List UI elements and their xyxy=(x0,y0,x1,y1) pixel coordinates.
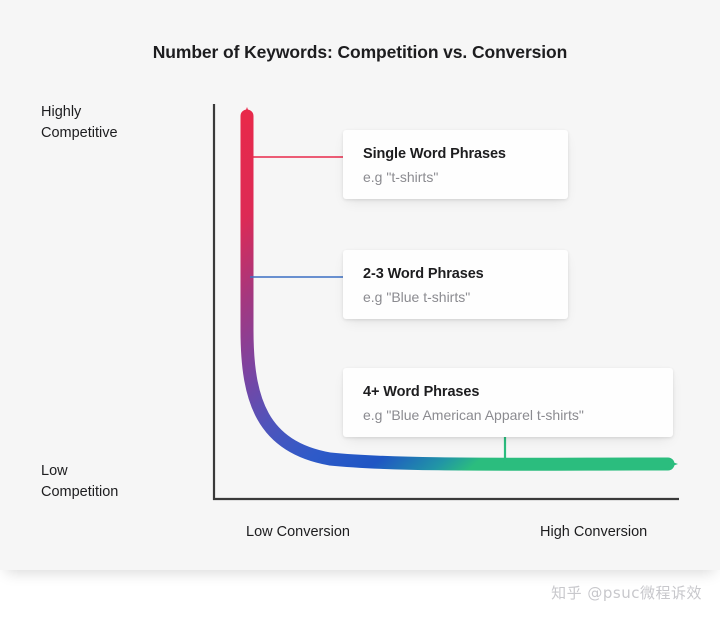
callout-title: Single Word Phrases xyxy=(363,146,548,162)
callout-example: e.g "Blue American Apparel t-shirts" xyxy=(363,407,653,423)
callout-example: e.g "Blue t-shirts" xyxy=(363,289,548,305)
callout-title: 4+ Word Phrases xyxy=(363,384,653,400)
chart-panel: Number of Keywords: Competition vs. Conv… xyxy=(0,0,720,570)
callout-card-two-three-word[interactable]: 2-3 Word Phrases e.g "Blue t-shirts" xyxy=(343,250,568,319)
callout-card-four-plus-word[interactable]: 4+ Word Phrases e.g "Blue American Appar… xyxy=(343,368,673,437)
callout-title: 2-3 Word Phrases xyxy=(363,266,548,282)
watermark: 知乎 @psuc微程诉效 xyxy=(551,582,702,603)
callout-example: e.g "t-shirts" xyxy=(363,169,548,185)
callout-card-single-word[interactable]: Single Word Phrases e.g "t-shirts" xyxy=(343,130,568,199)
